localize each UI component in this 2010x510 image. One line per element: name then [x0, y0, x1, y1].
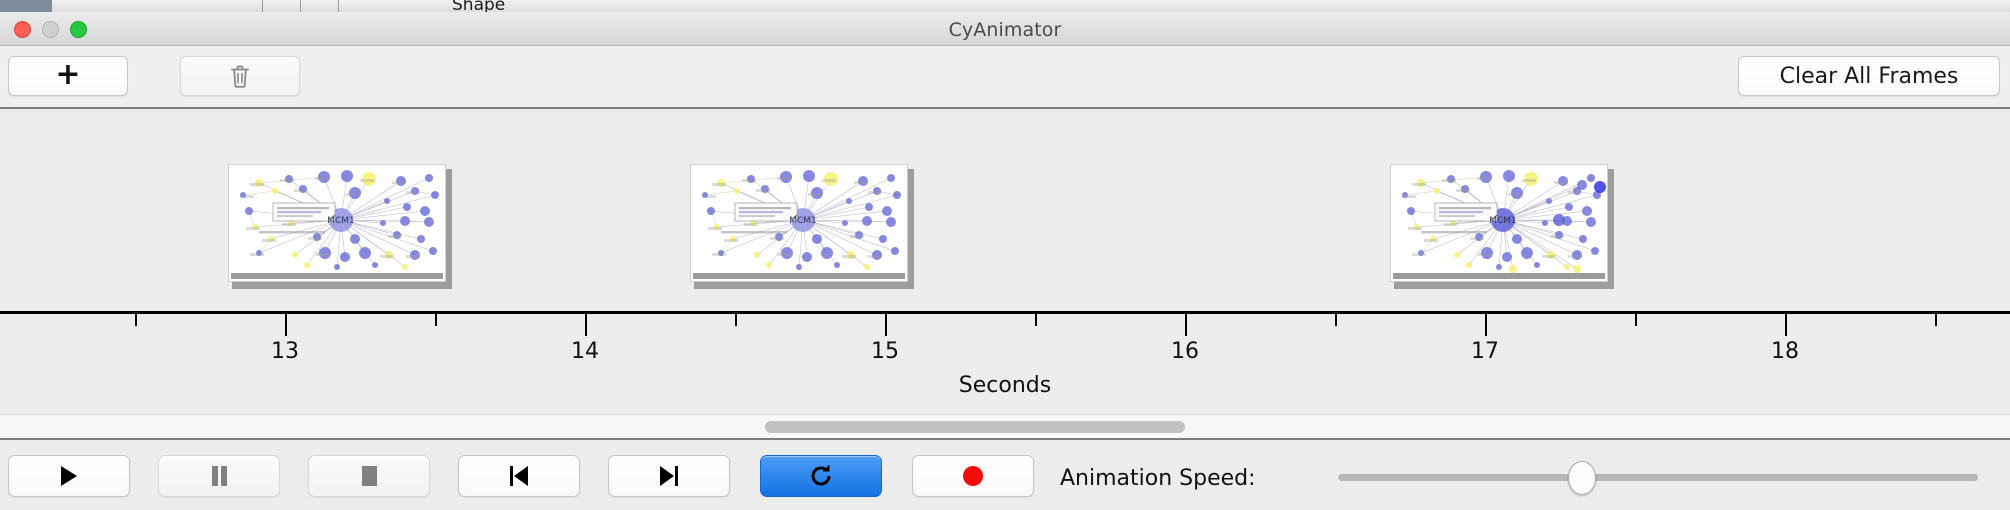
axis-tick-major: [1485, 314, 1487, 336]
timeline-panel[interactable]: MCM1 MCM1 MCM1 Seconds 12131415161718: [0, 109, 2010, 414]
axis-tick-major: [1185, 314, 1187, 336]
frames-area[interactable]: MCM1 MCM1 MCM1: [0, 109, 2010, 312]
axis-tick-minor: [135, 314, 137, 326]
frame-network-image: MCM1: [690, 164, 908, 282]
axis-tick-major: [285, 314, 287, 336]
timeline-frame-thumbnail[interactable]: MCM1: [1390, 164, 1610, 284]
loop-icon: [808, 463, 834, 489]
loop-button[interactable]: [760, 455, 882, 497]
skip-to-end-button[interactable]: [608, 455, 730, 497]
axis-tick-label: 14: [571, 339, 599, 364]
delete-frame-button[interactable]: [180, 56, 300, 96]
record-icon: [961, 464, 985, 488]
frame-network-image: MCM1: [1390, 164, 1608, 282]
timeline-axis: Seconds 12131415161718: [0, 311, 2010, 414]
svg-text:MCM1: MCM1: [1489, 216, 1517, 226]
timeline-frame-thumbnail[interactable]: MCM1: [690, 164, 910, 284]
axis-tick-label: 13: [271, 339, 299, 364]
skip-forward-icon: [658, 464, 680, 488]
axis-tick-minor: [435, 314, 437, 326]
axis-tick-major: [585, 314, 587, 336]
axis-tick-minor: [1635, 314, 1637, 326]
axis-tick-major: [1785, 314, 1787, 336]
axis-tick-label: 16: [1171, 339, 1199, 364]
skip-back-icon: [508, 464, 530, 488]
stop-button[interactable]: [308, 455, 430, 497]
plus-icon: +: [55, 60, 80, 90]
scrollbar-thumb[interactable]: [765, 421, 1185, 433]
skip-to-start-button[interactable]: [458, 455, 580, 497]
animation-speed-slider[interactable]: [1338, 467, 1978, 487]
axis-tick-minor: [1935, 314, 1937, 326]
slider-track: [1338, 474, 1978, 481]
trash-icon: [229, 64, 251, 89]
add-frame-button[interactable]: +: [8, 56, 128, 96]
axis-tick-minor: [1035, 314, 1037, 326]
cyanimator-window: Shape CyAnimator + Clear All: [0, 0, 2010, 510]
axis-tick-label: 15: [871, 339, 899, 364]
stop-icon: [359, 464, 379, 488]
window-title: CyAnimator: [0, 19, 2010, 41]
background-window-label: Shape: [452, 0, 505, 12]
clear-all-frames-button[interactable]: Clear All Frames: [1738, 56, 2000, 96]
svg-text:MCM1: MCM1: [789, 216, 817, 226]
axis-tick-label: 17: [1471, 339, 1499, 364]
pause-icon: [209, 464, 229, 488]
play-button[interactable]: [8, 455, 130, 497]
play-icon: [58, 464, 80, 488]
title-bar: CyAnimator: [0, 12, 2010, 46]
frame-network-image: MCM1: [228, 164, 446, 282]
axis-tick-minor: [735, 314, 737, 326]
axis-tick-major: [885, 314, 887, 336]
toolbar: + Clear All Frames: [0, 46, 2010, 109]
record-button[interactable]: [912, 455, 1034, 497]
timeline-horizontal-scrollbar[interactable]: [0, 414, 2010, 440]
axis-title: Seconds: [0, 373, 2010, 398]
axis-tick-label: 18: [1771, 339, 1799, 364]
pause-button[interactable]: [158, 455, 280, 497]
clear-all-frames-label: Clear All Frames: [1780, 64, 1959, 89]
axis-line: [0, 311, 2010, 314]
animation-speed-label: Animation Speed:: [1060, 466, 1256, 491]
axis-tick-minor: [1335, 314, 1337, 326]
timeline-frame-thumbnail[interactable]: MCM1: [228, 164, 448, 284]
slider-thumb[interactable]: [1568, 461, 1596, 495]
svg-text:MCM1: MCM1: [327, 216, 355, 226]
playback-control-bar: Animation Speed:: [0, 442, 2010, 510]
background-window-strip: Shape: [0, 0, 2010, 12]
